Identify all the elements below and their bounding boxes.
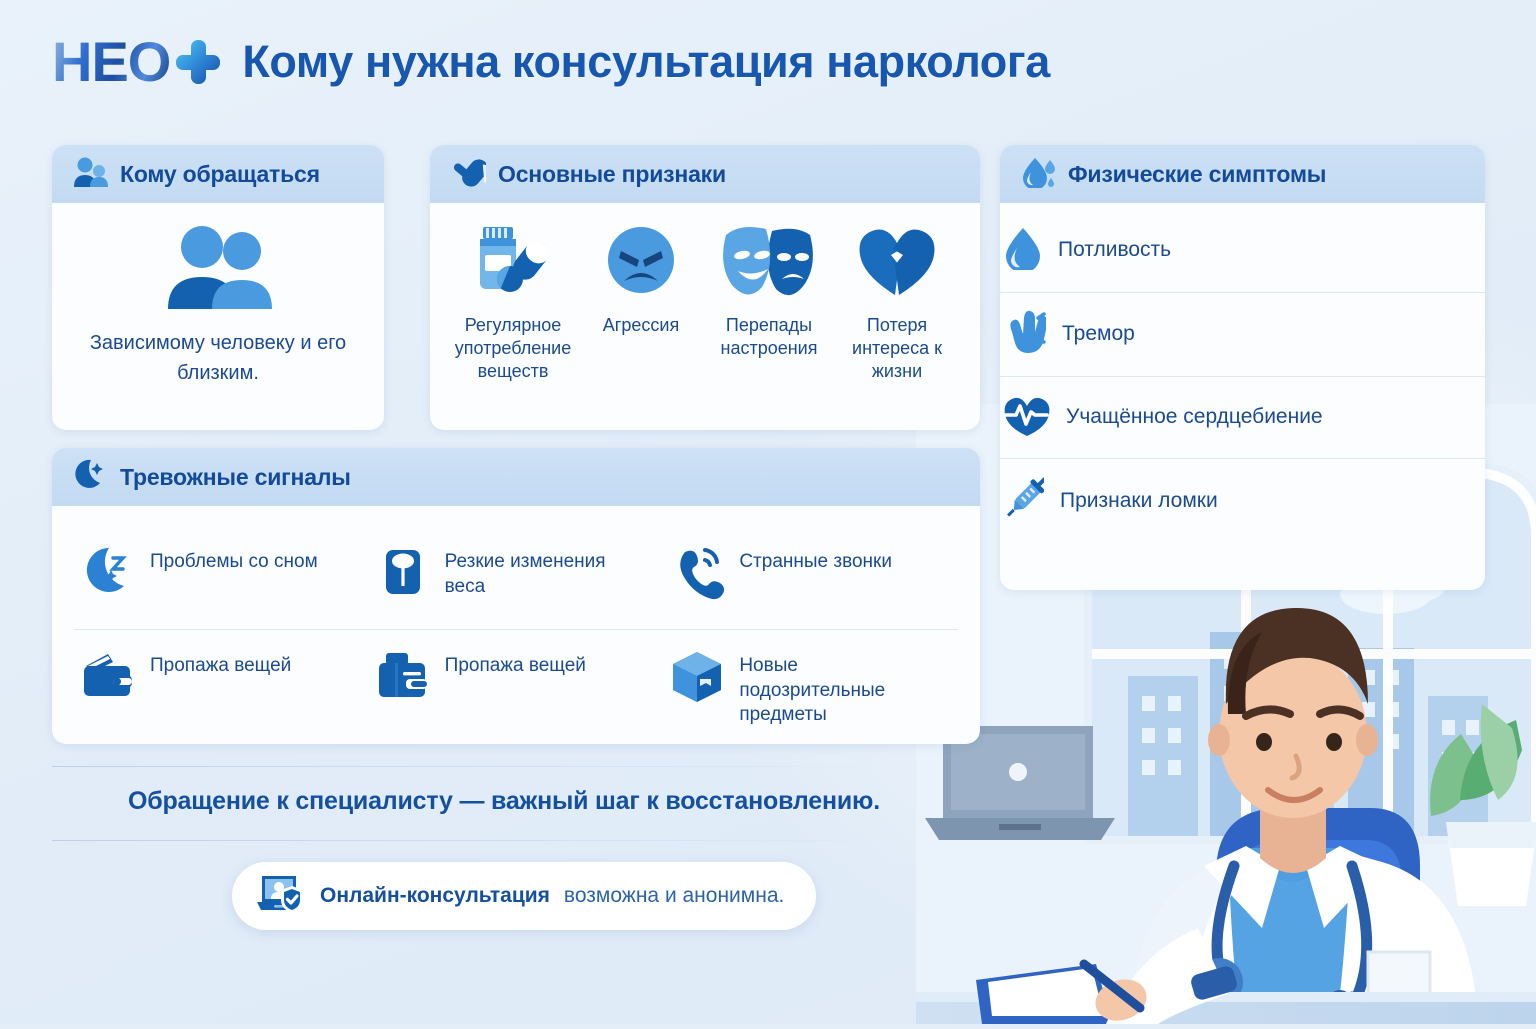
card-alerts-body: Проблемы со сном Резкие изменения веса (52, 506, 980, 744)
sign-item: Агрессия (580, 223, 702, 383)
alert-label: Резкие изменения веса (445, 544, 650, 599)
plus-symbol-icon (176, 40, 220, 84)
card-audience-body: Зависимому человеку и его близким. (52, 203, 384, 410)
card-physical-title: Физические симптомы (1068, 161, 1326, 188)
symptom-label: Потливость (1058, 237, 1171, 263)
briefcase-wallet-icon (375, 648, 431, 709)
crescent-moon-icon (74, 458, 108, 497)
alert-item: Резкие изменения веса (369, 526, 664, 630)
pill-bottle-icon (471, 223, 555, 302)
angry-face-icon (599, 223, 683, 302)
two-people-large-icon (158, 296, 278, 313)
card-alerts-header: Тревожные сигналы (52, 448, 980, 506)
page-title: Кому нужна консультация нарколога (242, 36, 1050, 88)
sign-item: Потеря интереса к жизни (836, 223, 958, 383)
badge-strong-text: Онлайн-консультация (320, 884, 550, 908)
sign-item: Перепады настроения (708, 223, 830, 383)
symptom-label: Тремор (1062, 321, 1135, 347)
card-audience-title: Кому обращаться (120, 161, 320, 188)
alert-label: Пропажа вещей (445, 648, 586, 679)
sign-label: Агрессия (603, 314, 679, 337)
card-signs-title: Основные признаки (498, 161, 726, 188)
moon-sleep-icon (80, 544, 136, 605)
alert-label: Проблемы со сном (150, 544, 318, 575)
symptom-row: Признаки ломки (1000, 459, 1485, 544)
trembling-hand-icon (1004, 310, 1046, 359)
card-audience-header: Кому обращаться (52, 145, 384, 203)
theater-masks-icon (722, 223, 816, 302)
sign-label: Перепады настроения (708, 314, 830, 360)
page-header: НЕО Кому нужна консультация нарколога (52, 34, 1050, 90)
alert-item: Проблемы со сном (74, 526, 369, 630)
footer-divider-bottom (52, 840, 912, 841)
card-signs-header: Основные признаки (430, 145, 980, 203)
pills-icon (452, 157, 486, 192)
laptop-verified-icon (256, 872, 306, 921)
card-audience-text: Зависимому человеку и его близким. (74, 328, 362, 388)
package-box-icon (669, 648, 725, 709)
symptom-label: Учащённое сердцебиение (1066, 404, 1323, 430)
syringe-icon (1004, 476, 1044, 527)
phone-ringing-icon (669, 544, 725, 605)
alert-label: Новые подозрительные предметы (739, 648, 944, 728)
alert-label: Странные звонки (739, 544, 892, 575)
sign-item: Регулярное употребление веществ (452, 223, 574, 383)
signs-grid: Регулярное употребление веществ Агрессия (452, 223, 958, 383)
droplet-icon (1004, 226, 1042, 275)
online-consultation-badge[interactable]: Онлайн-консультация возможна и анонимна. (232, 862, 816, 930)
footer-message: Обращение к специалисту — важный шаг к в… (128, 787, 880, 816)
brand-logo-text: НЕО (52, 34, 170, 90)
symptom-row: Потливость (1000, 209, 1485, 293)
symptom-row: Тремор (1000, 293, 1485, 377)
card-physical-body: Потливость Тремор Учащённое сердце (1000, 203, 1485, 544)
brand-logo: НЕО (52, 34, 220, 90)
card-audience: Кому обращаться Зависимому человеку и ег… (52, 145, 384, 430)
weight-scale-icon (375, 544, 431, 605)
card-alert-signals: Тревожные сигналы Проблемы со сном (52, 448, 980, 744)
alert-item: Странные звонки (663, 526, 958, 630)
card-signs: Основные признаки (430, 145, 980, 430)
water-drops-icon (1022, 156, 1056, 193)
symptom-row: Учащённое сердцебиение (1000, 377, 1485, 459)
alert-item: Новые подозрительные предметы (663, 630, 958, 744)
card-physical-header: Физические симптомы (1000, 145, 1485, 203)
alert-item: Пропажа вещей (74, 630, 369, 744)
broken-heart-icon (855, 223, 939, 302)
alert-label: Пропажа вещей (150, 648, 291, 679)
wallet-icon (80, 648, 136, 709)
card-signs-body: Регулярное употребление веществ Агрессия (430, 203, 980, 405)
badge-light-text: возможна и анонимна. (564, 884, 784, 908)
alert-item: Пропажа вещей (369, 630, 664, 744)
sign-label: Регулярное употребление веществ (452, 314, 574, 383)
footer-divider-top (52, 766, 912, 767)
card-alerts-title: Тревожные сигналы (120, 464, 351, 491)
two-people-icon (74, 157, 108, 192)
sign-label: Потеря интереса к жизни (836, 314, 958, 383)
card-physical-symptoms: Физические симптомы Потливость Тр (1000, 145, 1485, 590)
symptom-label: Признаки ломки (1060, 488, 1218, 514)
alerts-grid: Проблемы со сном Резкие изменения веса (74, 526, 958, 744)
heart-pulse-icon (1004, 394, 1050, 441)
